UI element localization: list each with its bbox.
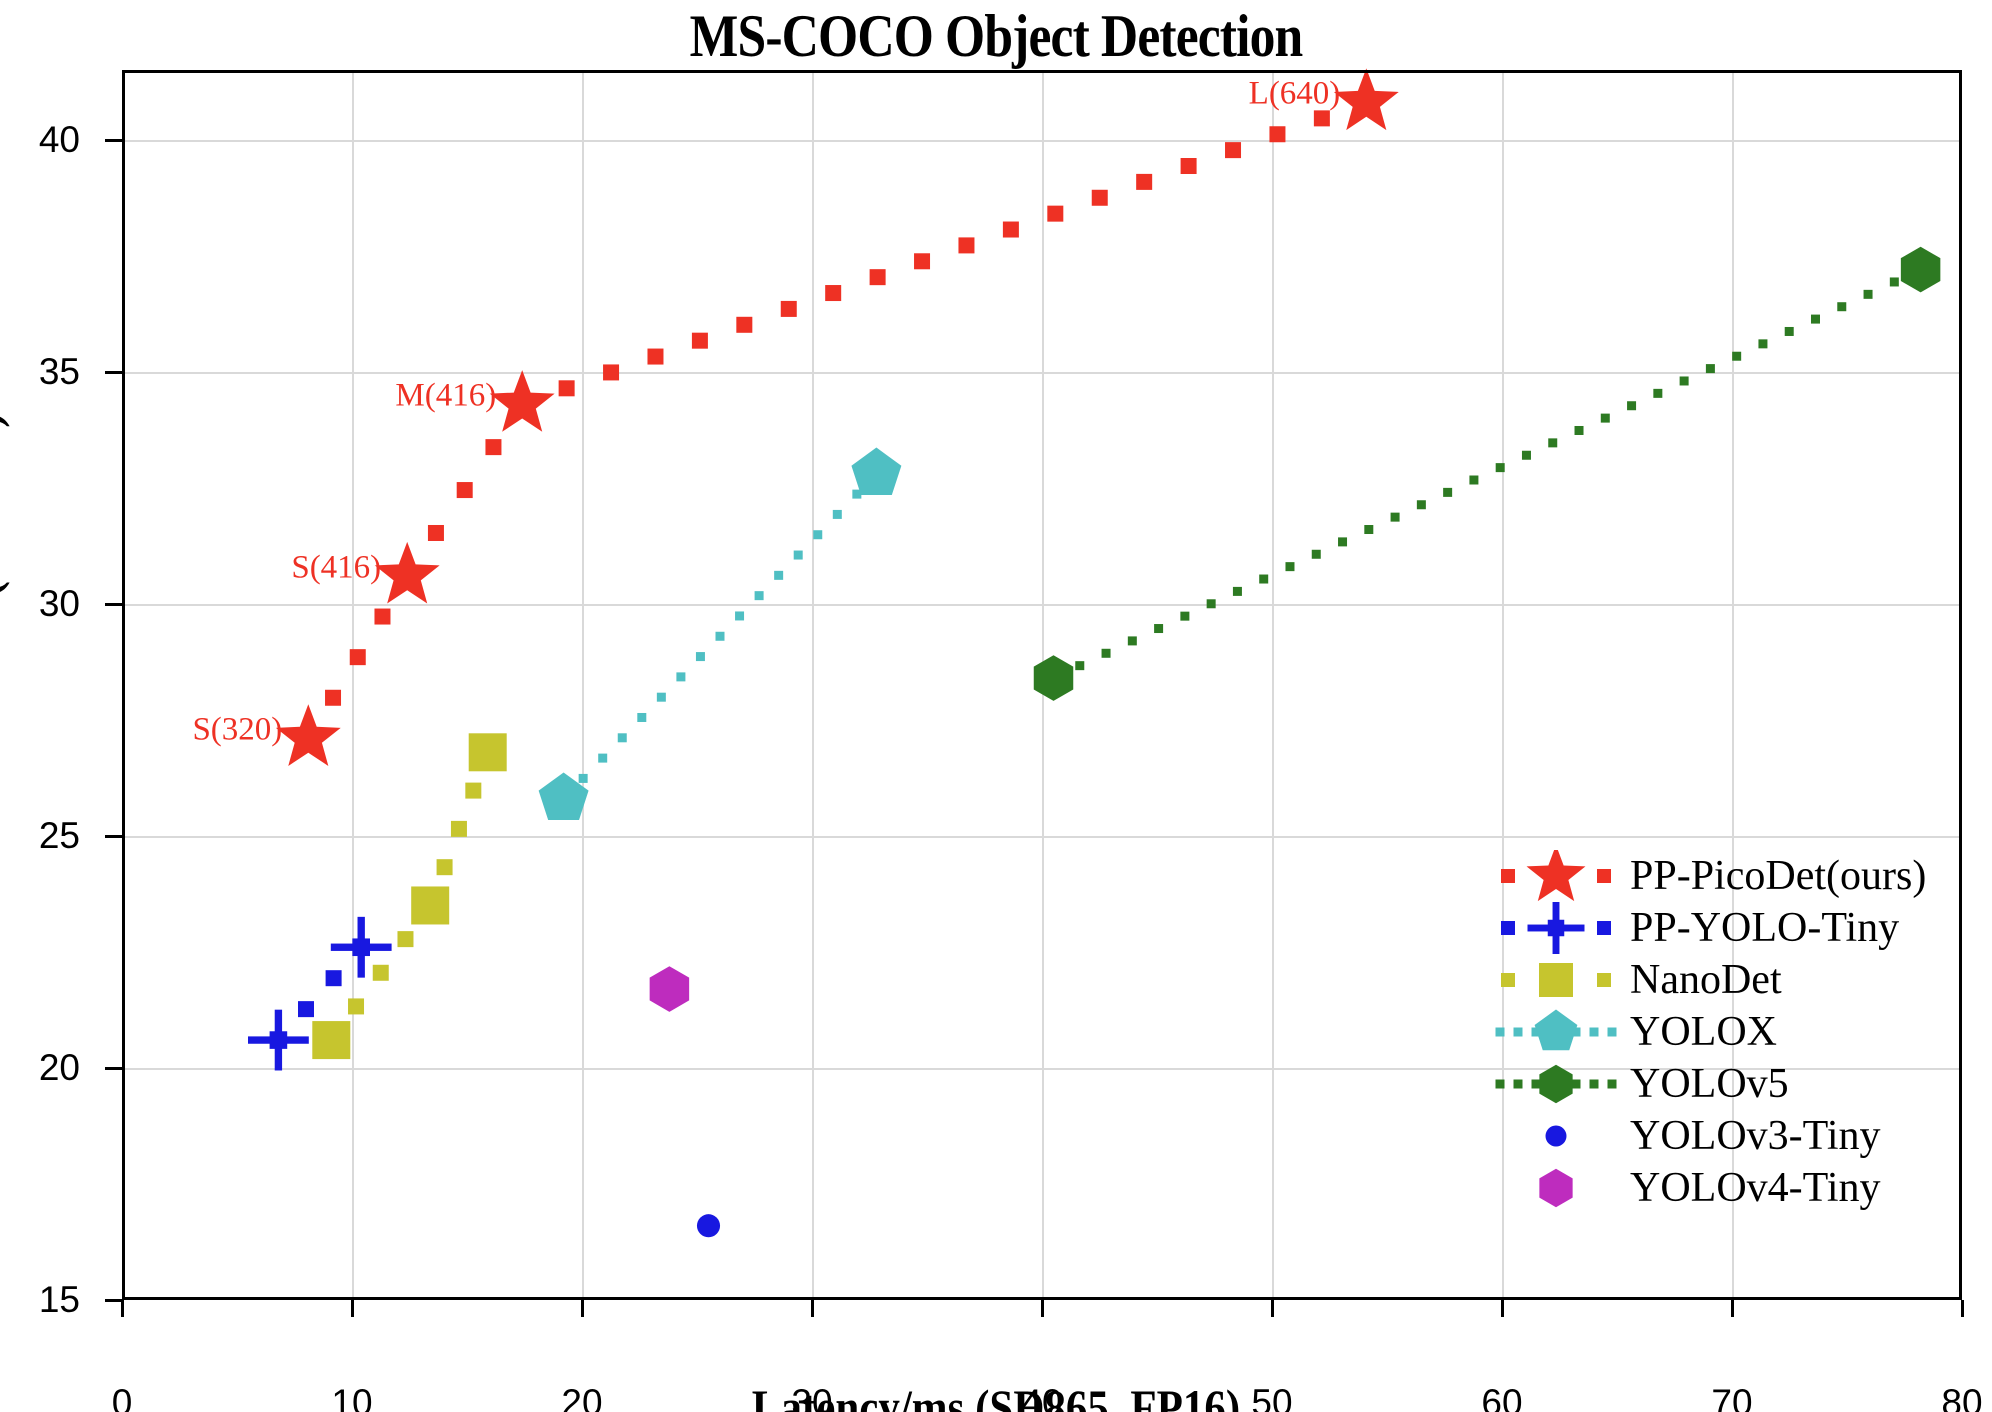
legend-item-PP-PicoDet(ours)[interactable]: PP-PicoDet(ours) bbox=[1492, 850, 1962, 902]
legend-item-YOLOv3-Tiny[interactable]: YOLOv3-Tiny bbox=[1492, 1110, 1962, 1162]
legend-symbol bbox=[1539, 1169, 1572, 1207]
legend-marker-icon bbox=[1492, 1058, 1620, 1110]
x-tick-mark bbox=[1961, 1300, 1964, 1317]
legend-glyph-PP-PicoDet(ours) bbox=[1492, 850, 1620, 902]
legend-symbol bbox=[1539, 1065, 1572, 1103]
legend-line-dash bbox=[1608, 1080, 1617, 1089]
legend-label: PP-YOLO-Tiny bbox=[1620, 904, 1899, 952]
y-tick-label: 15 bbox=[0, 1279, 80, 1321]
legend-glyph-YOLOX bbox=[1492, 1006, 1620, 1058]
y-tick-label: 30 bbox=[0, 583, 80, 625]
legend-line-dash bbox=[1572, 1080, 1581, 1089]
y-tick-label: 20 bbox=[0, 1047, 80, 1089]
x-tick-mark bbox=[581, 1300, 584, 1317]
legend-label: YOLOv4-Tiny bbox=[1620, 1164, 1880, 1212]
legend-line-dash bbox=[1501, 973, 1515, 987]
annotation-label: L(640) bbox=[1249, 76, 1341, 113]
legend-label: YOLOX bbox=[1620, 1008, 1777, 1056]
y-tick-label: 35 bbox=[0, 351, 80, 393]
annotation-label: M(416) bbox=[395, 378, 496, 415]
legend-glyph-NanoDet bbox=[1492, 954, 1620, 1006]
legend-marker-icon bbox=[1492, 1162, 1620, 1214]
y-tick-mark bbox=[105, 371, 122, 374]
legend-glyph-YOLOv4-Tiny bbox=[1492, 1162, 1620, 1214]
legend-line-dash bbox=[1496, 1080, 1505, 1089]
legend-glyph-PP-YOLO-Tiny bbox=[1492, 902, 1620, 954]
y-tick-label: 25 bbox=[0, 815, 80, 857]
annotation-label: S(320) bbox=[192, 712, 282, 749]
legend-line-dash bbox=[1597, 921, 1611, 935]
legend-symbol bbox=[1535, 1010, 1578, 1051]
y-tick-mark bbox=[105, 835, 122, 838]
page-title: MS-COCO Object Detection bbox=[139, 2, 1852, 71]
legend-line-dash bbox=[1608, 1028, 1617, 1037]
legend-label: PP-PicoDet(ours) bbox=[1620, 852, 1926, 900]
legend-symbol bbox=[1528, 902, 1585, 954]
legend-line-dash bbox=[1597, 973, 1611, 987]
x-tick-mark bbox=[811, 1300, 814, 1317]
x-axis-label: Latency/ms (SD865, FP16) bbox=[139, 1378, 1852, 1412]
x-tick-mark bbox=[1271, 1300, 1274, 1317]
legend-line-dash bbox=[1514, 1080, 1523, 1089]
y-tick-label: 40 bbox=[0, 119, 80, 161]
legend-line-dash bbox=[1590, 1028, 1599, 1037]
legend-marker-icon bbox=[1492, 1110, 1620, 1162]
legend-marker-icon bbox=[1492, 954, 1620, 1006]
x-tick-mark bbox=[1501, 1300, 1504, 1317]
legend-symbol bbox=[1527, 850, 1586, 901]
legend-item-NanoDet[interactable]: NanoDet bbox=[1492, 954, 1962, 1006]
legend-symbol bbox=[1539, 963, 1573, 997]
legend-glyph-YOLOv5 bbox=[1492, 1058, 1620, 1110]
y-tick-mark bbox=[105, 603, 122, 606]
legend-line-dash bbox=[1496, 1028, 1505, 1037]
legend-item-YOLOX[interactable]: YOLOX bbox=[1492, 1006, 1962, 1058]
legend: PP-PicoDet(ours)PP-YOLO-TinyNanoDetYOLOX… bbox=[1492, 850, 1962, 1214]
legend-item-YOLOv5[interactable]: YOLOv5 bbox=[1492, 1058, 1962, 1110]
legend-item-PP-YOLO-Tiny[interactable]: PP-YOLO-Tiny bbox=[1492, 902, 1962, 954]
legend-item-YOLOv4-Tiny[interactable]: YOLOv4-Tiny bbox=[1492, 1162, 1962, 1214]
legend-symbol bbox=[1546, 1126, 1567, 1147]
legend-marker-icon bbox=[1492, 1006, 1620, 1058]
legend-label: YOLOv3-Tiny bbox=[1620, 1112, 1880, 1160]
legend-line-dash bbox=[1501, 921, 1515, 935]
x-tick-mark bbox=[121, 1300, 124, 1317]
legend-line-dash bbox=[1590, 1080, 1599, 1089]
legend-label: YOLOv5 bbox=[1620, 1060, 1789, 1108]
x-tick-label: 80 bbox=[1892, 1382, 1992, 1412]
y-tick-mark bbox=[105, 139, 122, 142]
y-axis-label: COCO mAP(0.5:0.95) bbox=[0, 105, 11, 1154]
legend-marker-icon bbox=[1492, 902, 1620, 954]
y-tick-mark bbox=[105, 1067, 122, 1070]
x-tick-mark bbox=[1731, 1300, 1734, 1317]
legend-line-dash bbox=[1514, 1028, 1523, 1037]
legend-line-dash bbox=[1501, 869, 1515, 883]
legend-marker-icon bbox=[1492, 850, 1620, 902]
legend-label: NanoDet bbox=[1620, 956, 1782, 1004]
annotation-label: S(416) bbox=[291, 549, 381, 586]
chart-figure: MS-COCO Object Detection 010203040506070… bbox=[0, 0, 1992, 1412]
y-tick-mark bbox=[105, 1299, 122, 1302]
x-tick-mark bbox=[351, 1300, 354, 1317]
legend-line-dash bbox=[1532, 1080, 1541, 1089]
legend-glyph-YOLOv3-Tiny bbox=[1492, 1110, 1620, 1162]
legend-line-dash bbox=[1597, 869, 1611, 883]
x-tick-mark bbox=[1041, 1300, 1044, 1317]
